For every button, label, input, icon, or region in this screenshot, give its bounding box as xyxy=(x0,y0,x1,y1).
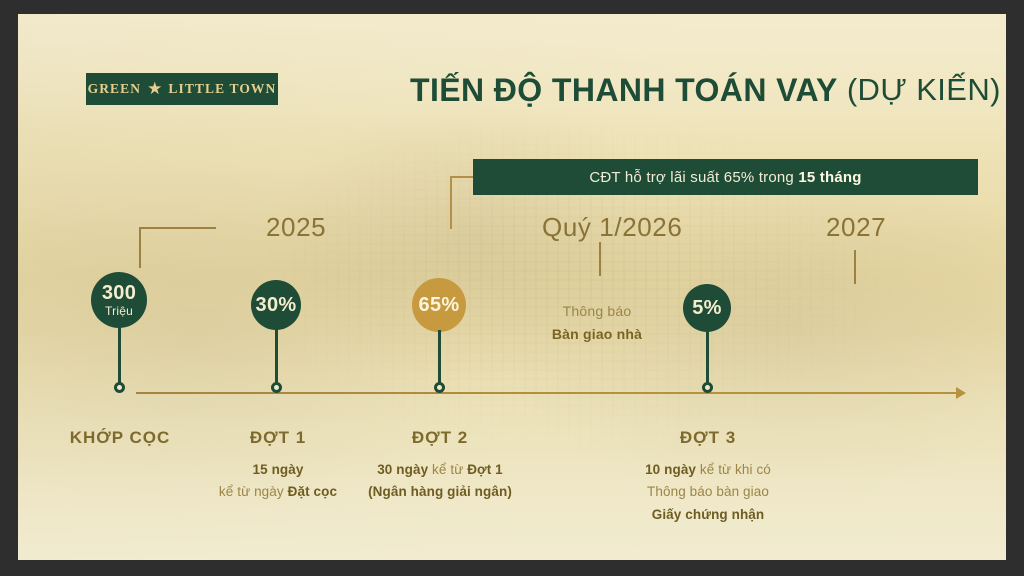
stage-title-2: ĐỢT 1 xyxy=(198,428,358,448)
milestone-dot-2[interactable] xyxy=(271,382,282,393)
banner-text-bold: 15 tháng xyxy=(798,169,861,186)
stage-title-4: ĐỢT 3 xyxy=(625,428,791,448)
milestone-badge-4[interactable]: 5% xyxy=(683,284,731,332)
stage-line: (Ngân hàng giải ngân) xyxy=(351,481,529,503)
stage-label-1: KHỚP CỌC xyxy=(40,428,200,459)
logo-text-right: LITTLE TOWN xyxy=(168,81,276,97)
stage-line-emphasis: 15 ngày xyxy=(253,462,304,477)
content-layer: GREEN ★ LITTLE TOWN TIẾN ĐỘ THANH TOÁN V… xyxy=(18,14,1006,560)
milestone-dot-4[interactable] xyxy=(702,382,713,393)
milestone-badge-1-value: 300 xyxy=(102,283,136,303)
banner-bracket-horizontal xyxy=(450,176,475,178)
stage-lines-2: 15 ngàykể từ ngày Đặt cọc xyxy=(198,459,358,504)
stage-lines-3: 30 ngày kể từ Đợt 1(Ngân hàng giải ngân) xyxy=(351,459,529,504)
year-2026-tick xyxy=(599,242,601,276)
stage-label-2: ĐỢT 1 15 ngàykể từ ngày Đặt cọc xyxy=(198,428,358,504)
milestone-stem-2 xyxy=(275,328,278,386)
milestone-badge-2-value: 30% xyxy=(256,295,297,315)
milestone-stem-3 xyxy=(438,330,441,386)
banner-text: CĐT hỗ trợ lãi suất 65% trong 15 tháng xyxy=(589,169,861,186)
stage-title-3: ĐỢT 2 xyxy=(351,428,529,448)
milestone-dot-1[interactable] xyxy=(114,382,125,393)
stage-line: Thông báo bàn giao xyxy=(625,481,791,503)
milestone-badge-3-value: 65% xyxy=(419,295,460,315)
stage-line-emphasis: Đặt cọc xyxy=(288,484,337,499)
year-label-2026: Quý 1/2026 xyxy=(542,212,682,243)
stage-line: 15 ngày xyxy=(198,459,358,481)
brand-logo: GREEN ★ LITTLE TOWN xyxy=(86,73,278,105)
year-2027-tick xyxy=(854,250,856,284)
stage-label-4: ĐỢT 3 10 ngày kể từ khi cóThông báo bàn … xyxy=(625,428,791,526)
page-title-sub: (DỰ KIẾN) xyxy=(847,72,1001,108)
milestone-badge-4-value: 5% xyxy=(692,298,722,318)
stage-line: Giấy chứng nhận xyxy=(625,504,791,526)
milestone-badge-1-unit: Triệu xyxy=(105,305,133,317)
delivery-note: Thông báo Bàn giao nhà xyxy=(527,303,667,342)
stage-line-emphasis: Đợt 1 xyxy=(467,462,503,477)
stage-label-3: ĐỢT 2 30 ngày kể từ Đợt 1(Ngân hàng giải… xyxy=(351,428,529,504)
year-2025-bracket-vertical xyxy=(139,227,141,268)
banner-bracket-vertical xyxy=(450,176,452,229)
stage-line: kể từ ngày Đặt cọc xyxy=(198,481,358,503)
delivery-note-line2: Bàn giao nhà xyxy=(527,326,667,342)
milestone-badge-2[interactable]: 30% xyxy=(251,280,301,330)
milestone-stem-4 xyxy=(706,330,709,386)
stage-lines-4: 10 ngày kể từ khi cóThông báo bàn giaoGi… xyxy=(625,459,791,526)
star-icon: ★ xyxy=(147,80,162,97)
milestone-badge-1[interactable]: 300 Triệu xyxy=(91,272,147,328)
page-title-main: TIẾN ĐỘ THANH TOÁN VAY xyxy=(410,72,838,109)
year-label-2025: 2025 xyxy=(266,212,326,243)
stage-title-1: KHỚP CỌC xyxy=(40,428,200,448)
stage-line-emphasis: 30 ngày xyxy=(377,462,428,477)
logo-text-left: GREEN xyxy=(88,81,142,97)
milestone-dot-3[interactable] xyxy=(434,382,445,393)
stage-line: 30 ngày kể từ Đợt 1 xyxy=(351,459,529,481)
year-2025-bracket-horizontal xyxy=(139,227,216,229)
delivery-note-line1: Thông báo xyxy=(527,303,667,319)
milestone-stem-1 xyxy=(118,326,121,386)
interest-support-banner: CĐT hỗ trợ lãi suất 65% trong 15 tháng xyxy=(473,159,978,195)
timeline-arrow-icon xyxy=(956,387,966,399)
year-label-2027: 2027 xyxy=(826,212,886,243)
milestone-badge-3[interactable]: 65% xyxy=(412,278,466,332)
page-title: TIẾN ĐỘ THANH TOÁN VAY (DỰ KIẾN) xyxy=(410,68,1006,112)
stage-line-emphasis: 10 ngày xyxy=(645,462,696,477)
timeline-axis xyxy=(136,392,964,394)
infographic-canvas: GREEN ★ LITTLE TOWN TIẾN ĐỘ THANH TOÁN V… xyxy=(18,14,1006,560)
stage-line: 10 ngày kể từ khi có xyxy=(625,459,791,481)
